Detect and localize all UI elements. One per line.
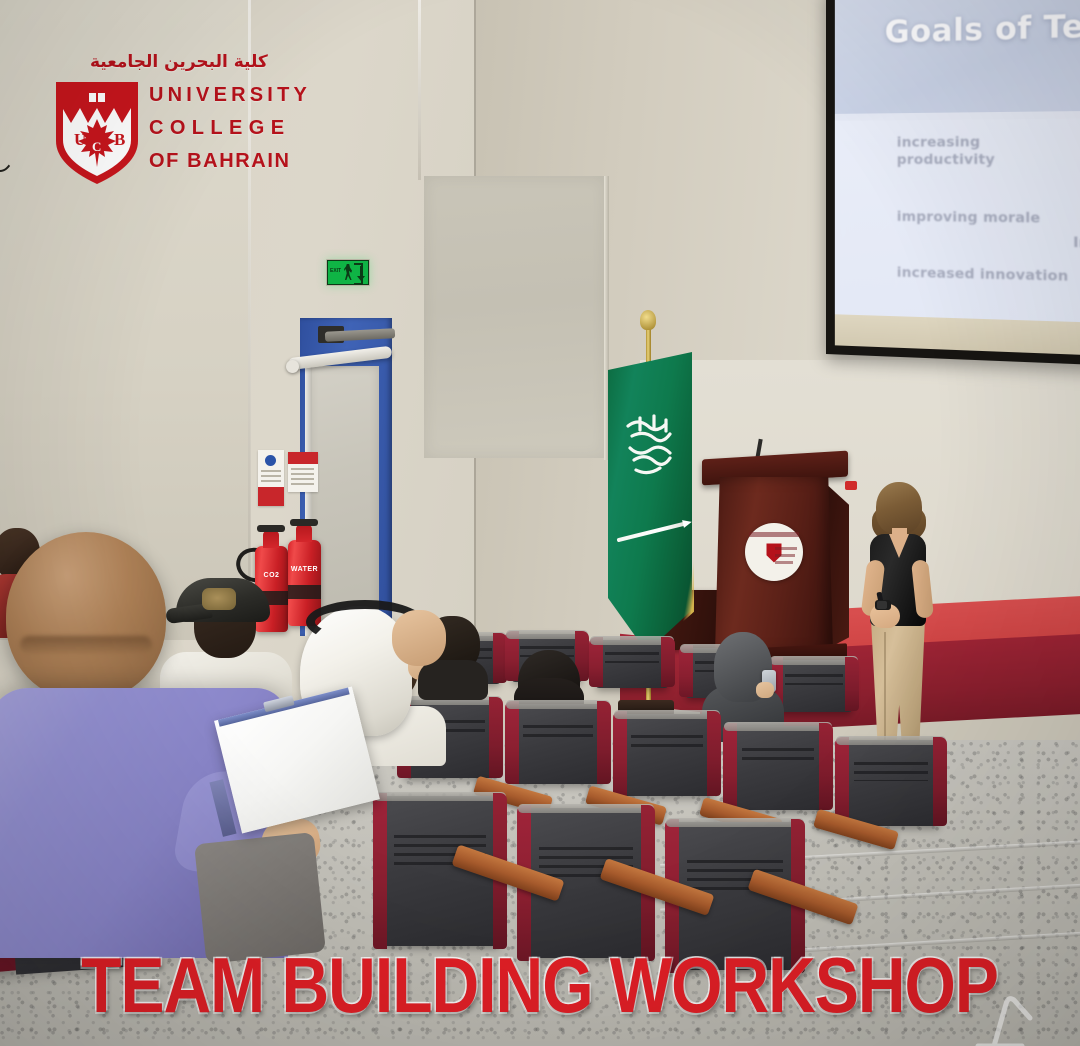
attendee-head — [6, 532, 166, 700]
banner-title: TEAM BUILDING WORKSHOP — [82, 942, 999, 1031]
flag-fringe — [606, 352, 694, 654]
screen-frame: Goals of Tear increasing productivity im… — [826, 0, 1080, 365]
slide-column-left: increasing productivity improving morale… — [897, 133, 1069, 326]
sign-red-band — [258, 487, 284, 506]
door-push-bar-end — [286, 360, 299, 373]
slide-bullet: increasing productivity — [897, 133, 1069, 169]
slide-column-right: In — [1073, 234, 1080, 293]
flag-finial — [640, 310, 656, 330]
slide-bullet: improving morale — [897, 208, 1069, 228]
auditorium-seat[interactable] — [596, 640, 668, 688]
auditorium-seat[interactable] — [842, 740, 940, 826]
presenter-hair — [876, 482, 922, 534]
logo-line-of-bahrain: OF BAHRAIN — [149, 150, 311, 173]
wall-safety-sign — [258, 450, 284, 506]
university-logo: كلية البحرين الجامعية U B C UNIVERSITY C… — [34, 52, 296, 200]
logo-line-college: COLLEGE — [149, 117, 311, 140]
wall-seam — [418, 0, 421, 180]
slide-title: Goals of Tear — [885, 7, 1080, 50]
extinguisher-handle — [290, 519, 318, 526]
auditorium-seat[interactable] — [620, 714, 714, 796]
sign-red-band — [288, 452, 318, 464]
attendee-background — [392, 610, 456, 684]
slide-footer-band — [835, 314, 1080, 356]
logo-line-university: UNIVERSITY — [149, 84, 311, 107]
shield-icon: U B C — [52, 79, 142, 187]
corner-watermark — [948, 988, 1068, 1046]
svg-text:C: C — [92, 139, 101, 154]
auditorium-seat[interactable] — [512, 704, 604, 784]
wall-instruction-sign — [288, 452, 318, 492]
arrow-down-icon — [360, 266, 362, 279]
logo-arabic-text: كلية البحرين الجامعية — [90, 52, 268, 72]
slide-body: increasing productivity improving morale… — [835, 118, 1080, 333]
roller-blind-panel — [424, 176, 606, 458]
auditorium-seat[interactable] — [776, 660, 852, 712]
projection-screen: Goals of Tear increasing productivity im… — [826, 0, 1080, 365]
event-photo-banner: Goals of Tear increasing productivity im… — [0, 0, 1080, 1046]
exit-sign-label: EXIT — [330, 268, 341, 274]
slide-bullet: increased innovation — [897, 264, 1069, 286]
slide-bullet: In — [1073, 234, 1080, 252]
logo-wordmark: UNIVERSITY COLLEGE OF BAHRAIN — [149, 84, 311, 173]
banner-title-bar: TEAM BUILDING WORKSHOP — [0, 926, 1080, 1046]
crest-arabic-text — [749, 532, 799, 537]
presentation-slide: Goals of Tear increasing productivity im… — [835, 0, 1080, 355]
auditorium-seat[interactable] — [730, 726, 826, 810]
svg-text:B: B — [114, 130, 125, 149]
lectern-crest — [745, 523, 803, 581]
exit-sign: EXIT — [326, 259, 370, 286]
info-dot-icon — [265, 455, 276, 466]
